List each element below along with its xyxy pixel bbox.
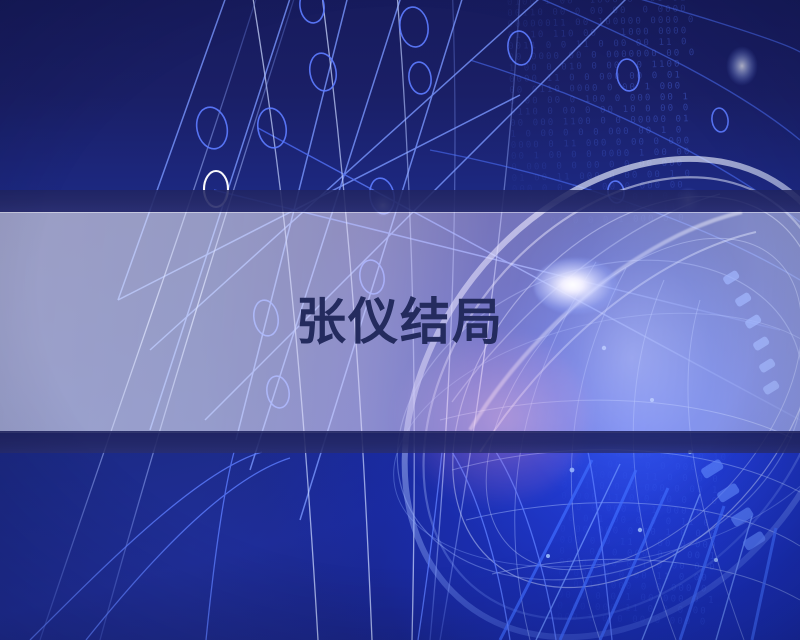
vignette-overlay — [0, 0, 800, 640]
title-slide: 0100 1 00 1000 0 00 01 00110 00 0 00 00 … — [0, 0, 800, 640]
